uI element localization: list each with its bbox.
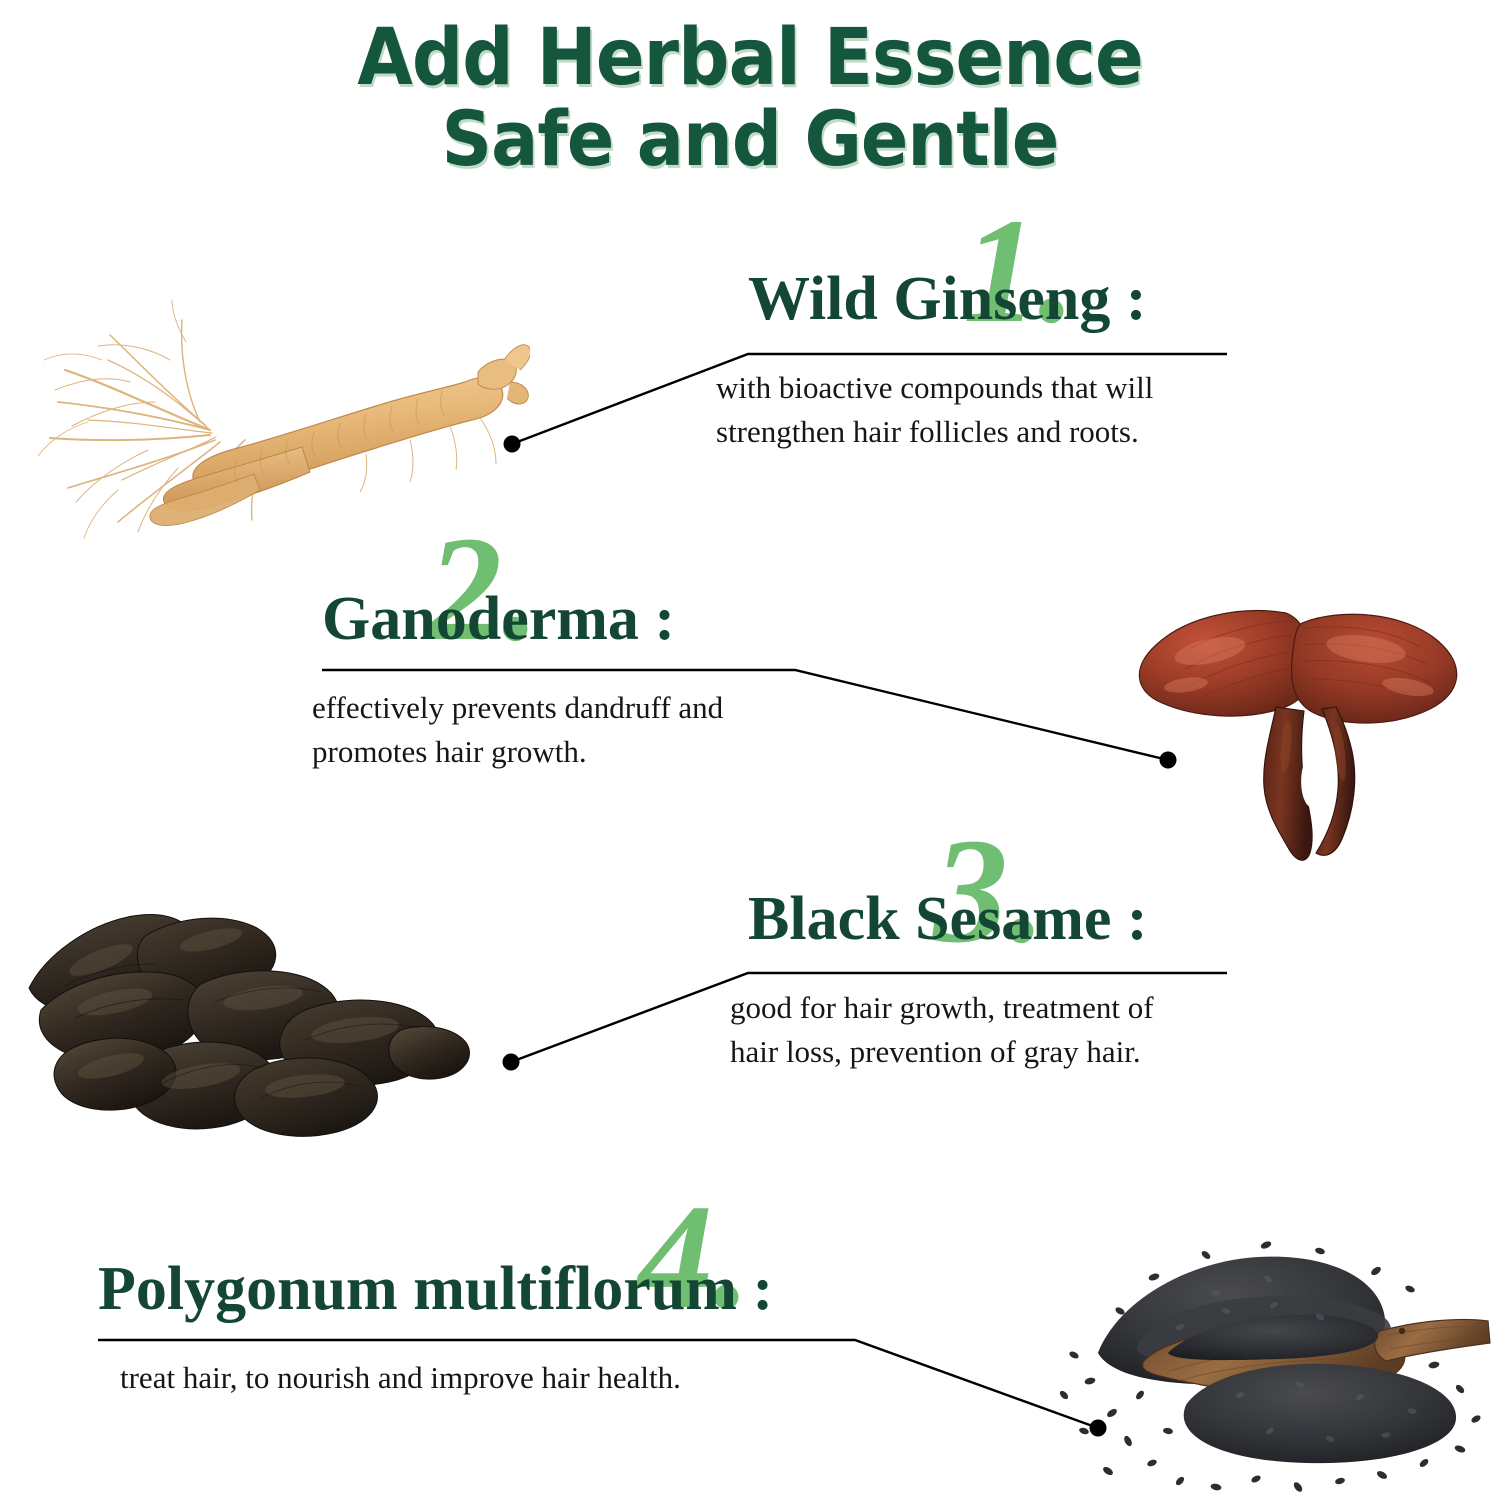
black-sesame-seeds-scoop-photo [1020,1235,1495,1500]
ingredient-block-4: 4. Polygonum multiflorum : treat hair, t… [98,1258,773,1400]
ingredient-block-3: 3. Black Sesame : good for hair growth, … [748,888,1154,1074]
title-line-2: Safe and Gentle [60,99,1440,178]
ingredient-name-4: Polygonum multiflorum : [98,1258,773,1320]
ingredient-block-2: 2. Ganoderma : effectively prevents dand… [322,588,723,774]
ingredient-description-4: treat hair, to nourish and improve hair … [120,1356,773,1400]
ingredient-description-3: good for hair growth, treatment of hair … [730,986,1154,1074]
dried-dark-slices-photo [5,890,495,1155]
ingredient-block-1: 1. Wild Ginseng : with bioactive compoun… [748,268,1153,454]
ingredient-description-1: with bioactive compounds that will stren… [716,366,1153,454]
ingredient-name-2: Ganoderma : [322,588,723,650]
ingredient-name-3: Black Sesame : [748,888,1154,950]
ganoderma-reishi-mushroom-photo [1090,575,1490,865]
leader-dot-3 [503,1054,520,1071]
ingredient-name-1: Wild Ginseng : [748,268,1153,330]
title-line-1: Add Herbal Essence [60,18,1440,99]
page-title: Add Herbal Essence Safe and Gentle [0,18,1500,178]
ingredient-description-2: effectively prevents dandruff and promot… [312,686,723,774]
infographic-canvas: Add Herbal Essence Safe and Gentle [0,0,1500,1500]
